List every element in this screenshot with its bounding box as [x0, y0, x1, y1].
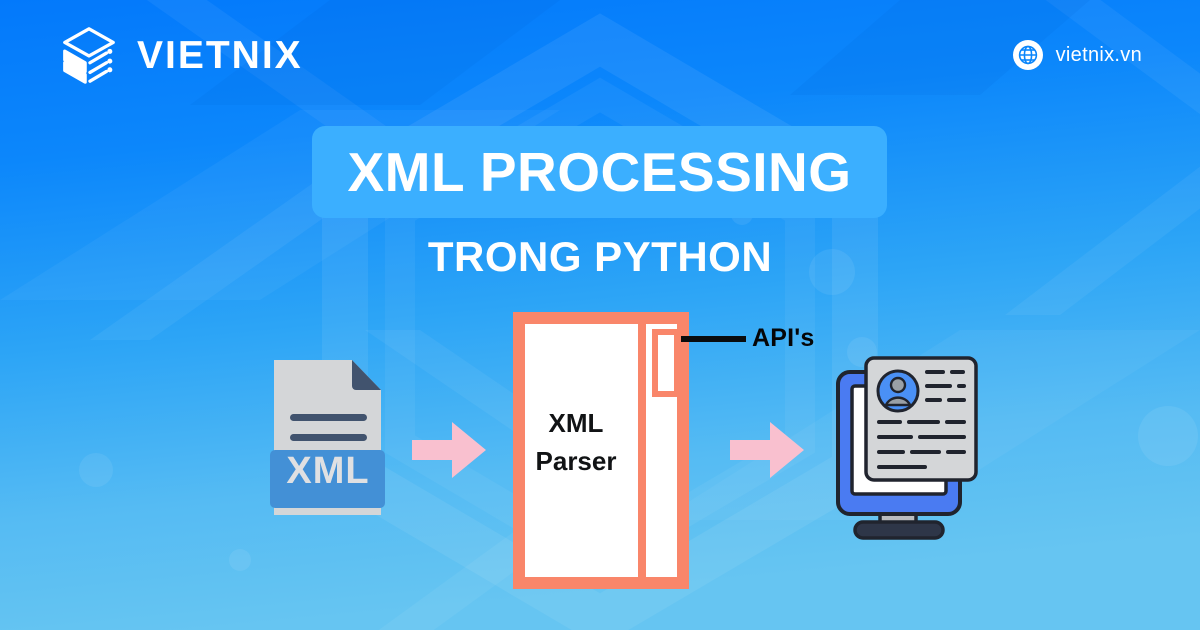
- xml-parser-label: XML Parser: [513, 405, 639, 480]
- title-banner: XML PROCESSING: [312, 126, 887, 218]
- xml-parser-label-line2: Parser: [513, 443, 639, 481]
- page-title: XML PROCESSING: [347, 145, 851, 200]
- page-subtitle: TRONG PYTHON: [0, 236, 1200, 278]
- monitor-document-icon: [838, 358, 976, 538]
- xml-file-badge-label: XML: [270, 452, 386, 490]
- poster-canvas: VIETNIX vietnix.vn XML PROCESSING: [0, 0, 1200, 630]
- globe-icon: [1013, 40, 1043, 70]
- site-url-link[interactable]: vietnix.vn: [1013, 40, 1142, 70]
- user-avatar-icon: [878, 371, 918, 411]
- xml-parser-label-line1: XML: [513, 405, 639, 443]
- page-header: VIETNIX vietnix.vn: [0, 0, 1200, 110]
- site-url-text: vietnix.vn: [1056, 45, 1142, 65]
- arrow-right-icon-2: [730, 422, 804, 478]
- stacked-layers-icon: [58, 24, 120, 86]
- brand-name: VIETNIX: [137, 36, 303, 75]
- api-label: API's: [752, 326, 815, 351]
- arrow-right-icon-1: [412, 422, 486, 478]
- brand-logo[interactable]: VIETNIX: [58, 24, 303, 86]
